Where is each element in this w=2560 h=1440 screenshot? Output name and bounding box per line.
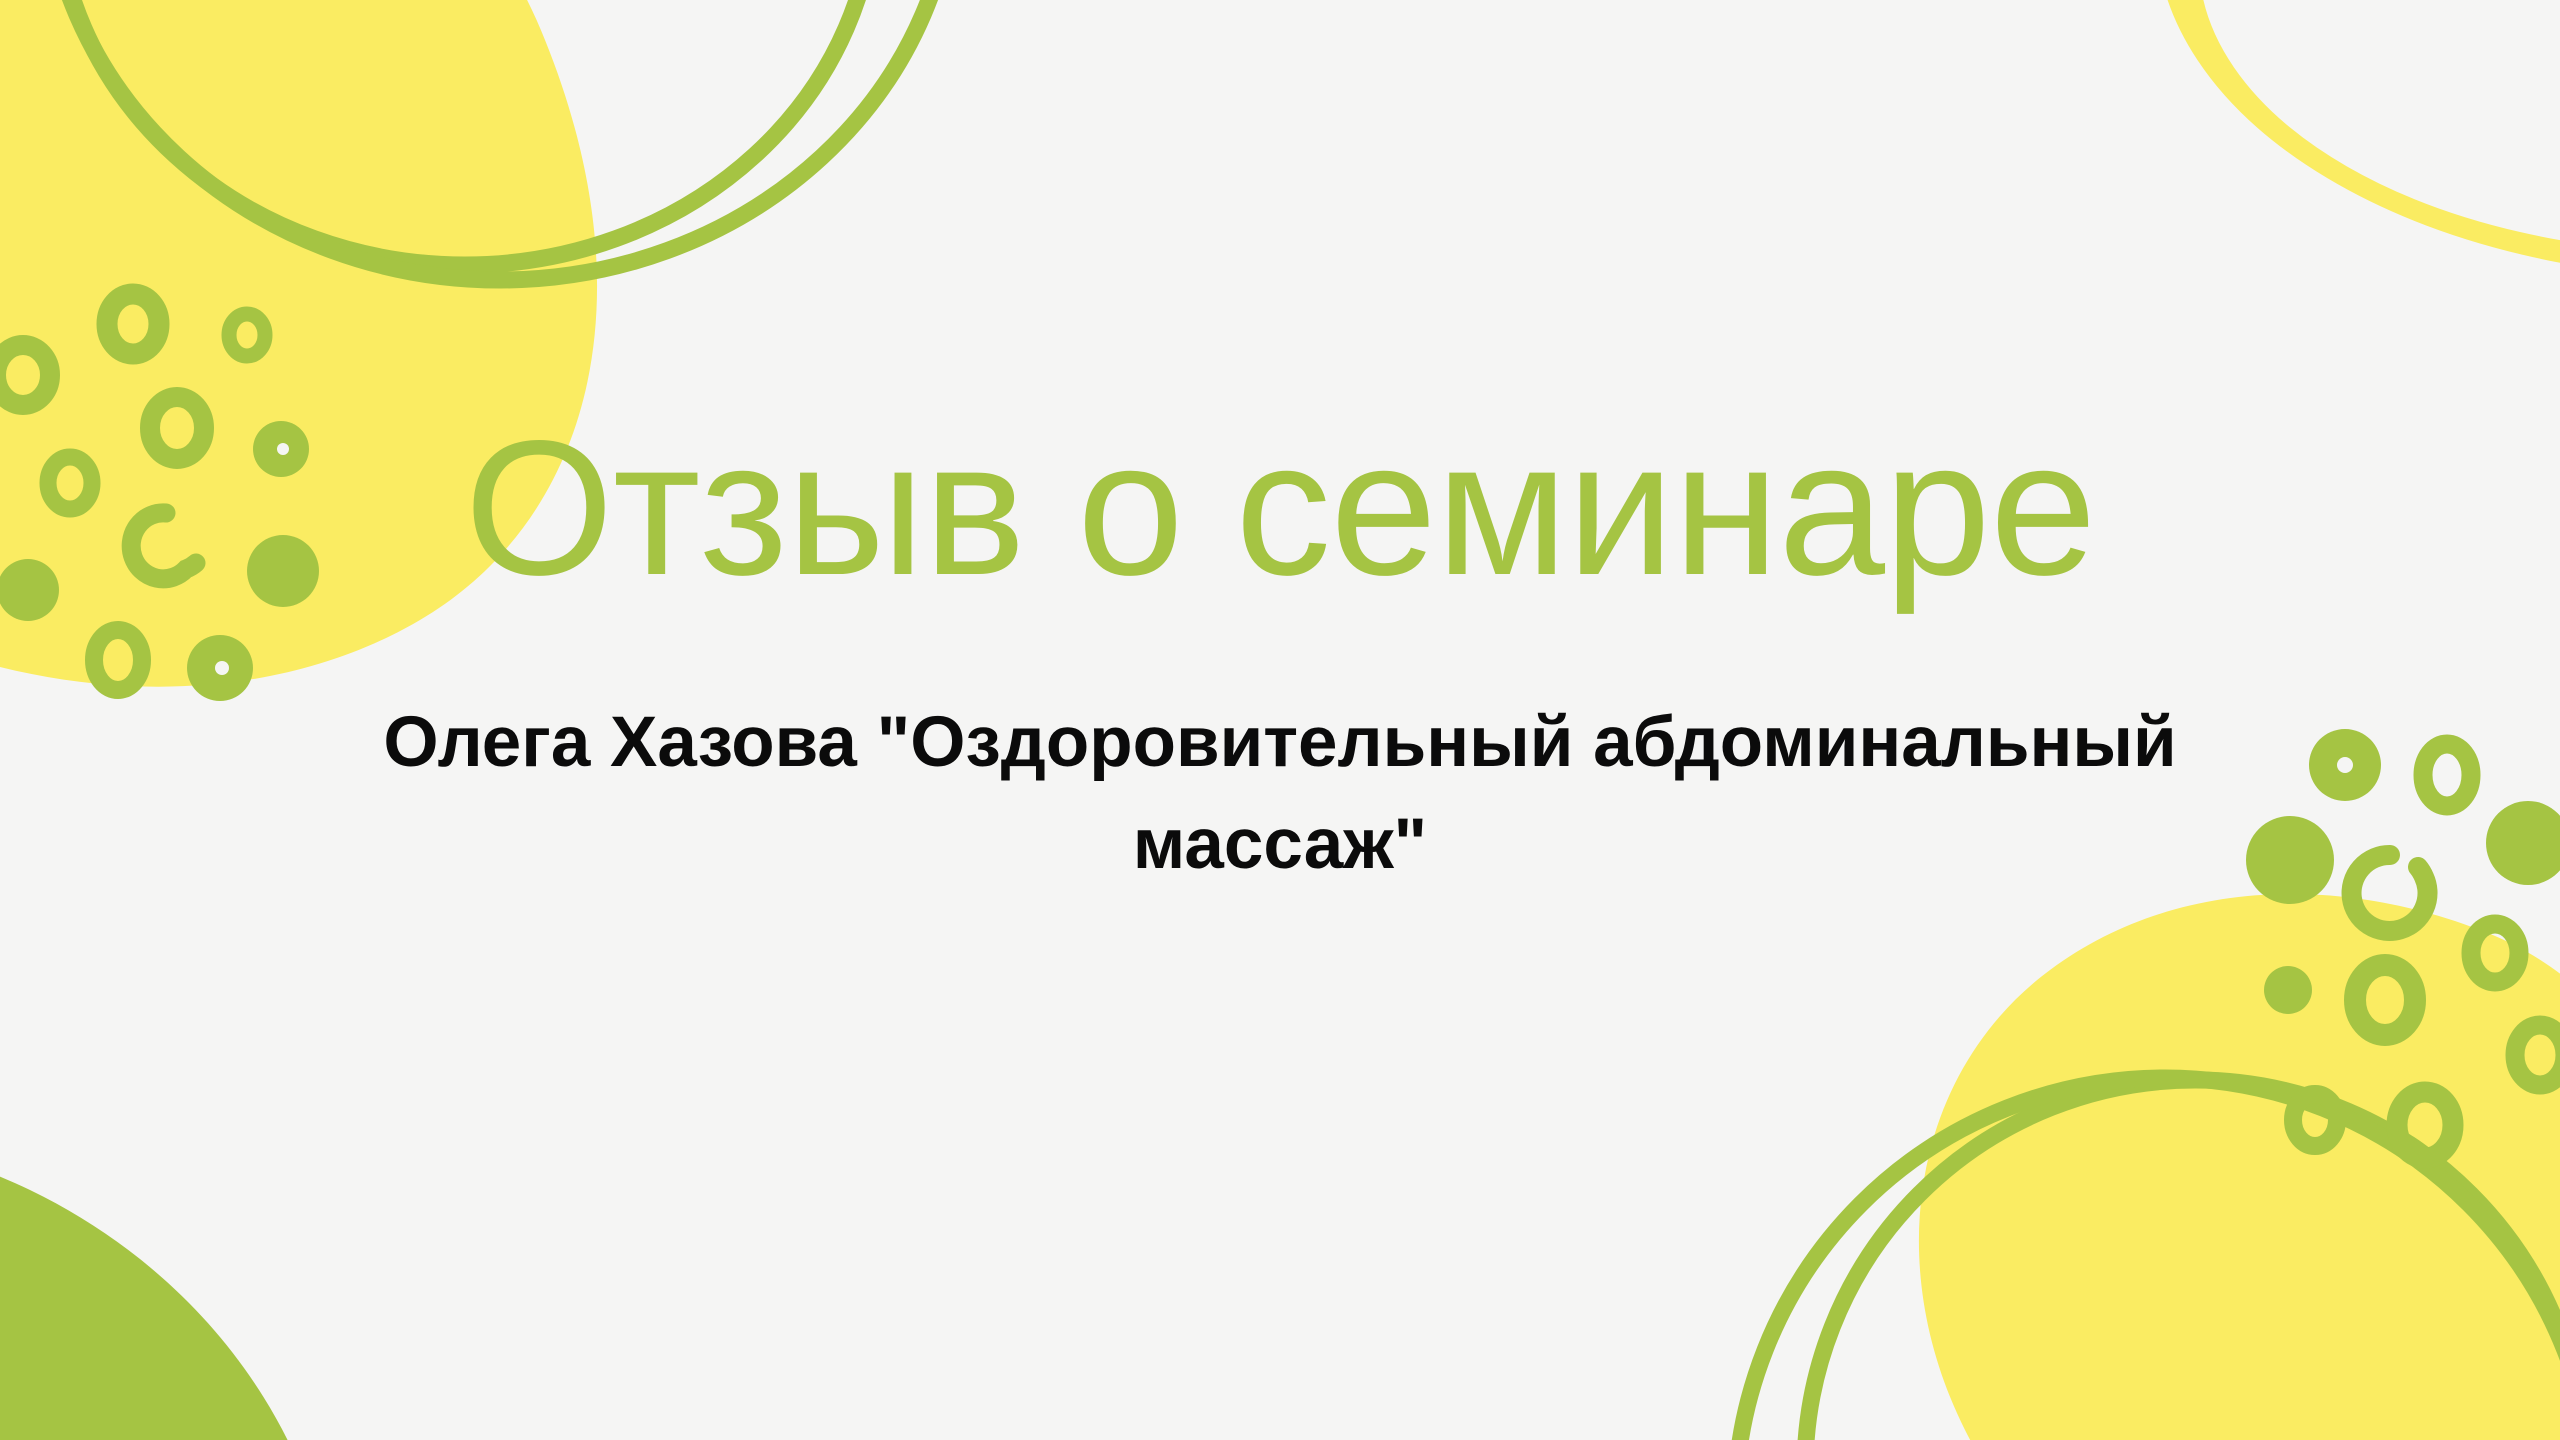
page-subtitle: Олега Хазова "Оздоровительный абдоминаль… <box>330 692 2230 895</box>
slide-text-layer: Отзыв о семинаре Олега Хазова "Оздоровит… <box>0 0 2560 1440</box>
page-title: Отзыв о семинаре <box>0 400 2560 615</box>
presentation-slide: Отзыв о семинаре Олега Хазова "Оздоровит… <box>0 0 2560 1440</box>
